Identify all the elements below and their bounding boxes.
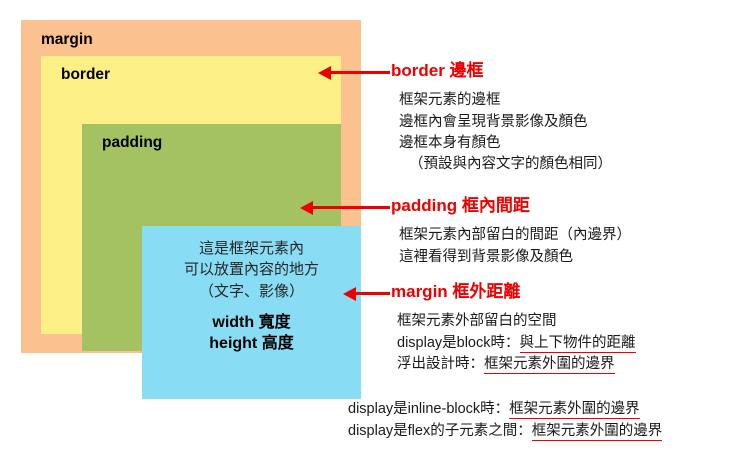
annotation-lines-border: 框架元素的邊框 邊框內會呈現背景影像及顏色 邊框本身有顏色 （預設與內容文字的顏…: [399, 90, 750, 175]
annotation-line: 框架元素內部留白的間距（內邊界）: [399, 225, 750, 246]
annotation-line: 框架元素的邊框: [399, 90, 750, 111]
annotation-column: border 邊框 框架元素的邊框 邊框內會呈現背景影像及顏色 邊框本身有顏色 …: [391, 0, 750, 461]
annotation-rule-line: display是inline-block時：框架元素外圍的邊界: [348, 399, 750, 421]
annotation-block-padding: padding 框內間距 框架元素內部留白的間距（內邊界） 這裡看得到背景影像及…: [391, 196, 750, 268]
box-model-diagram: margin border padding 這是框架元素內 可以放置內容的地方 …: [21, 20, 361, 353]
arrow-to-border-icon: [329, 71, 390, 74]
arrow-to-padding-icon: [311, 206, 390, 209]
content-width-label: width 寬度: [212, 312, 290, 334]
padding-layer: padding 這是框架元素內 可以放置內容的地方 （文字、影像） width …: [82, 124, 341, 351]
annotation-lines-margin: 框架元素外部留白的空間 display是block時：與上下物件的距離 浮出設計…: [397, 311, 750, 375]
annotation-block-margin: margin 框外距離 框架元素外部留白的空間 display是block時：與…: [391, 282, 750, 375]
annotation-block-border: border 邊框 框架元素的邊框 邊框內會呈現背景影像及顏色 邊框本身有顏色 …: [391, 61, 750, 176]
annotation-title-padding: padding 框內間距: [391, 196, 750, 216]
arrow-to-margin-icon: [354, 292, 390, 295]
content-height-label: height 高度: [209, 333, 293, 355]
annotation-rule-line: display是block時：與上下物件的距離: [397, 333, 750, 354]
rule-label: display是block時：: [397, 335, 520, 351]
rule-value: 框架元素外圍的邊界: [484, 356, 615, 374]
content-layer: 這是框架元素內 可以放置內容的地方 （文字、影像） width 寬度 heigh…: [142, 226, 361, 399]
annotation-rule-line: display是flex的子元素之間：框架元素外圍的邊界: [348, 421, 750, 443]
annotation-title-border: border 邊框: [391, 61, 750, 81]
annotation-line: 邊框本身有顏色: [399, 133, 750, 154]
content-text-line: 可以放置內容的地方: [184, 259, 319, 280]
border-layer: border padding 這是框架元素內 可以放置內容的地方 （文字、影像）…: [41, 56, 341, 334]
annotation-title-margin: margin 框外距離: [391, 282, 750, 302]
margin-layer-label: margin: [41, 32, 93, 48]
rule-value: 與上下物件的距離: [520, 335, 636, 353]
rule-value: 框架元素外圍的邊界: [509, 401, 640, 419]
annotation-rule-line: 浮出設計時：框架元素外圍的邊界: [397, 354, 750, 375]
border-layer-label: border: [61, 67, 110, 83]
rule-label: display是inline-block時：: [348, 401, 509, 417]
content-text-line: 這是框架元素內: [199, 238, 304, 259]
annotation-lines-padding: 框架元素內部留白的間距（內邊界） 這裡看得到背景影像及顏色: [399, 225, 750, 268]
annotation-line: 框架元素外部留白的空間: [397, 311, 750, 332]
annotation-line: 邊框內會呈現背景影像及顏色: [399, 112, 750, 133]
rule-value: 框架元素外圍的邊界: [532, 423, 663, 441]
content-text-line: （文字、影像）: [199, 281, 304, 302]
rule-label: 浮出設計時：: [397, 356, 484, 372]
rule-label: display是flex的子元素之間：: [348, 423, 532, 439]
annotation-line: （預設與內容文字的顏色相同）: [409, 154, 750, 175]
annotation-line: 這裡看得到背景影像及顏色: [399, 247, 750, 268]
margin-layer: margin border padding 這是框架元素內 可以放置內容的地方 …: [21, 20, 361, 353]
padding-layer-label: padding: [102, 135, 162, 151]
annotation-tail-rules: display是inline-block時：框架元素外圍的邊界 display是…: [348, 399, 750, 443]
